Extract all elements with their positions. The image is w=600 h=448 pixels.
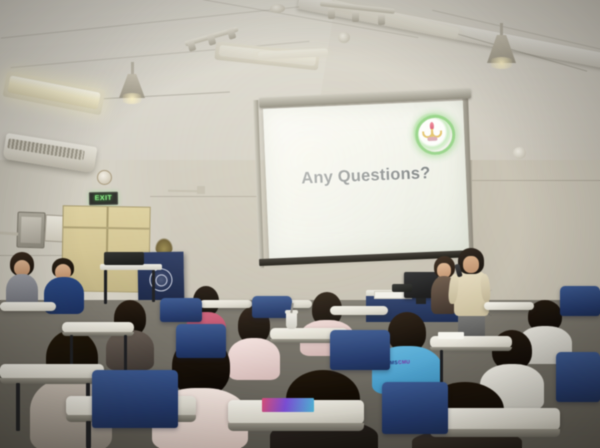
table-leg <box>152 270 155 302</box>
wall-light-fitting <box>513 147 526 159</box>
desk-leg <box>124 335 127 373</box>
tablet-arm-desk <box>200 300 252 308</box>
track-light-head <box>328 8 335 19</box>
tablet-arm-desk <box>0 364 104 379</box>
exit-sign: EXIT <box>89 192 118 206</box>
pendant-lamp-glow <box>120 93 144 104</box>
classroom-chair[interactable] <box>160 298 202 322</box>
track-light-head <box>352 11 359 22</box>
desk-item-booklet <box>262 398 314 412</box>
track-light-head <box>378 14 385 25</box>
screen-surface: Any Questions? <box>263 101 469 261</box>
wall-panel-seam <box>150 196 260 197</box>
logo-emblem <box>422 122 443 143</box>
wall-junction-box <box>197 186 205 194</box>
desk-edge <box>430 429 560 437</box>
classroom-chair[interactable] <box>560 286 600 316</box>
logo-base <box>427 137 437 141</box>
pendant-lamp-rod <box>500 23 503 37</box>
monitor-stand <box>416 298 426 304</box>
screen-rail-left <box>253 100 264 268</box>
smoke-detector <box>270 4 285 13</box>
desk-leg <box>16 383 20 431</box>
tablet-arm-desk <box>430 408 560 430</box>
desk-leg <box>86 421 91 448</box>
pendant-lamp-glow <box>488 57 515 69</box>
desk-leg <box>440 350 443 384</box>
electrical-panel[interactable] <box>16 212 45 249</box>
wall-clock <box>97 170 112 185</box>
tablet-arm-desk <box>330 306 388 315</box>
pendant-lamp-rod <box>131 62 134 76</box>
classroom-chair[interactable] <box>92 370 178 428</box>
desk-edge <box>228 423 364 431</box>
classroom-chair[interactable] <box>330 330 390 370</box>
face <box>463 256 479 273</box>
laptop-device[interactable] <box>392 284 412 292</box>
wall-panel-seam <box>472 180 600 181</box>
exit-sign-label: EXIT <box>95 195 113 202</box>
slide-title-text: Any Questions? <box>266 163 467 190</box>
classroom-presentation-photo: Any Questions? EXIT <box>0 0 600 448</box>
ceiling-vent <box>338 32 350 43</box>
drink-cup <box>286 312 297 329</box>
electrical-panel-face <box>21 217 42 244</box>
tablet-arm-desk <box>0 302 56 311</box>
classroom-chair[interactable] <box>176 324 226 358</box>
shirt-print-accent: CMU <box>398 359 411 366</box>
classroom-chair[interactable] <box>556 352 600 402</box>
notebook-paper <box>438 332 464 339</box>
slide-logo-icon <box>412 112 452 152</box>
table-leg <box>104 270 107 304</box>
tablet-arm-desk <box>484 302 534 310</box>
torso <box>106 330 154 370</box>
classroom-chair[interactable] <box>382 382 448 434</box>
av-equipment <box>104 252 144 265</box>
